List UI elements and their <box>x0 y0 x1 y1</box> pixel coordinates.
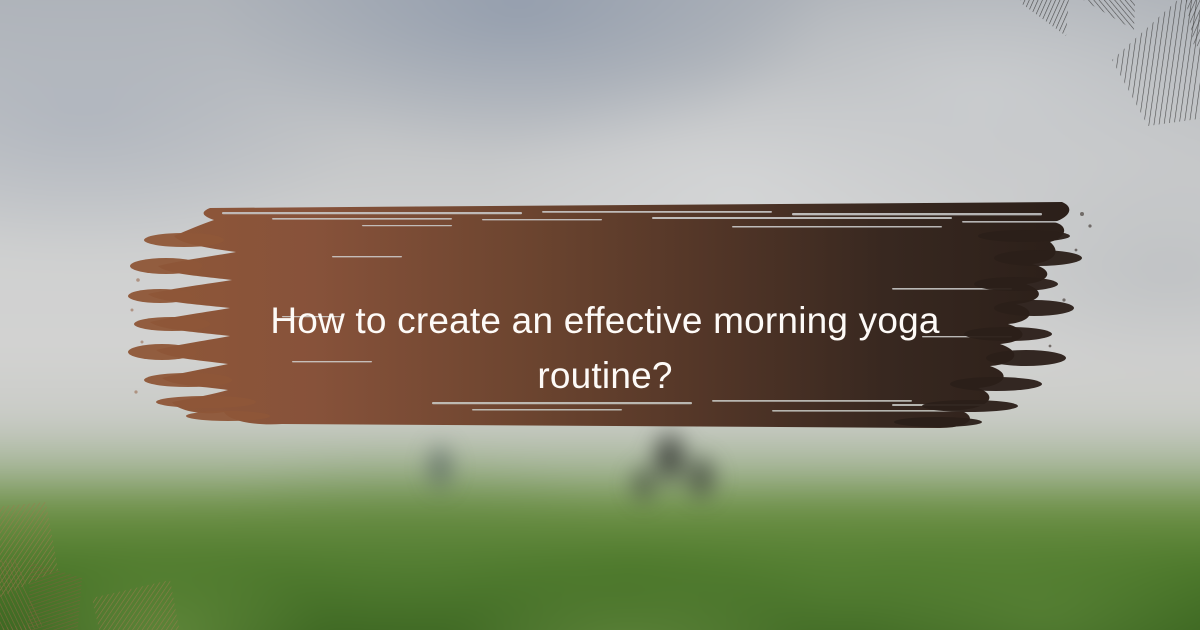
background-figure <box>610 420 740 530</box>
page-title: How to create an effective morning yoga … <box>150 293 1060 403</box>
banner-canvas: How to create an effective morning yoga … <box>0 0 1200 630</box>
background-figure-secondary <box>395 425 485 520</box>
